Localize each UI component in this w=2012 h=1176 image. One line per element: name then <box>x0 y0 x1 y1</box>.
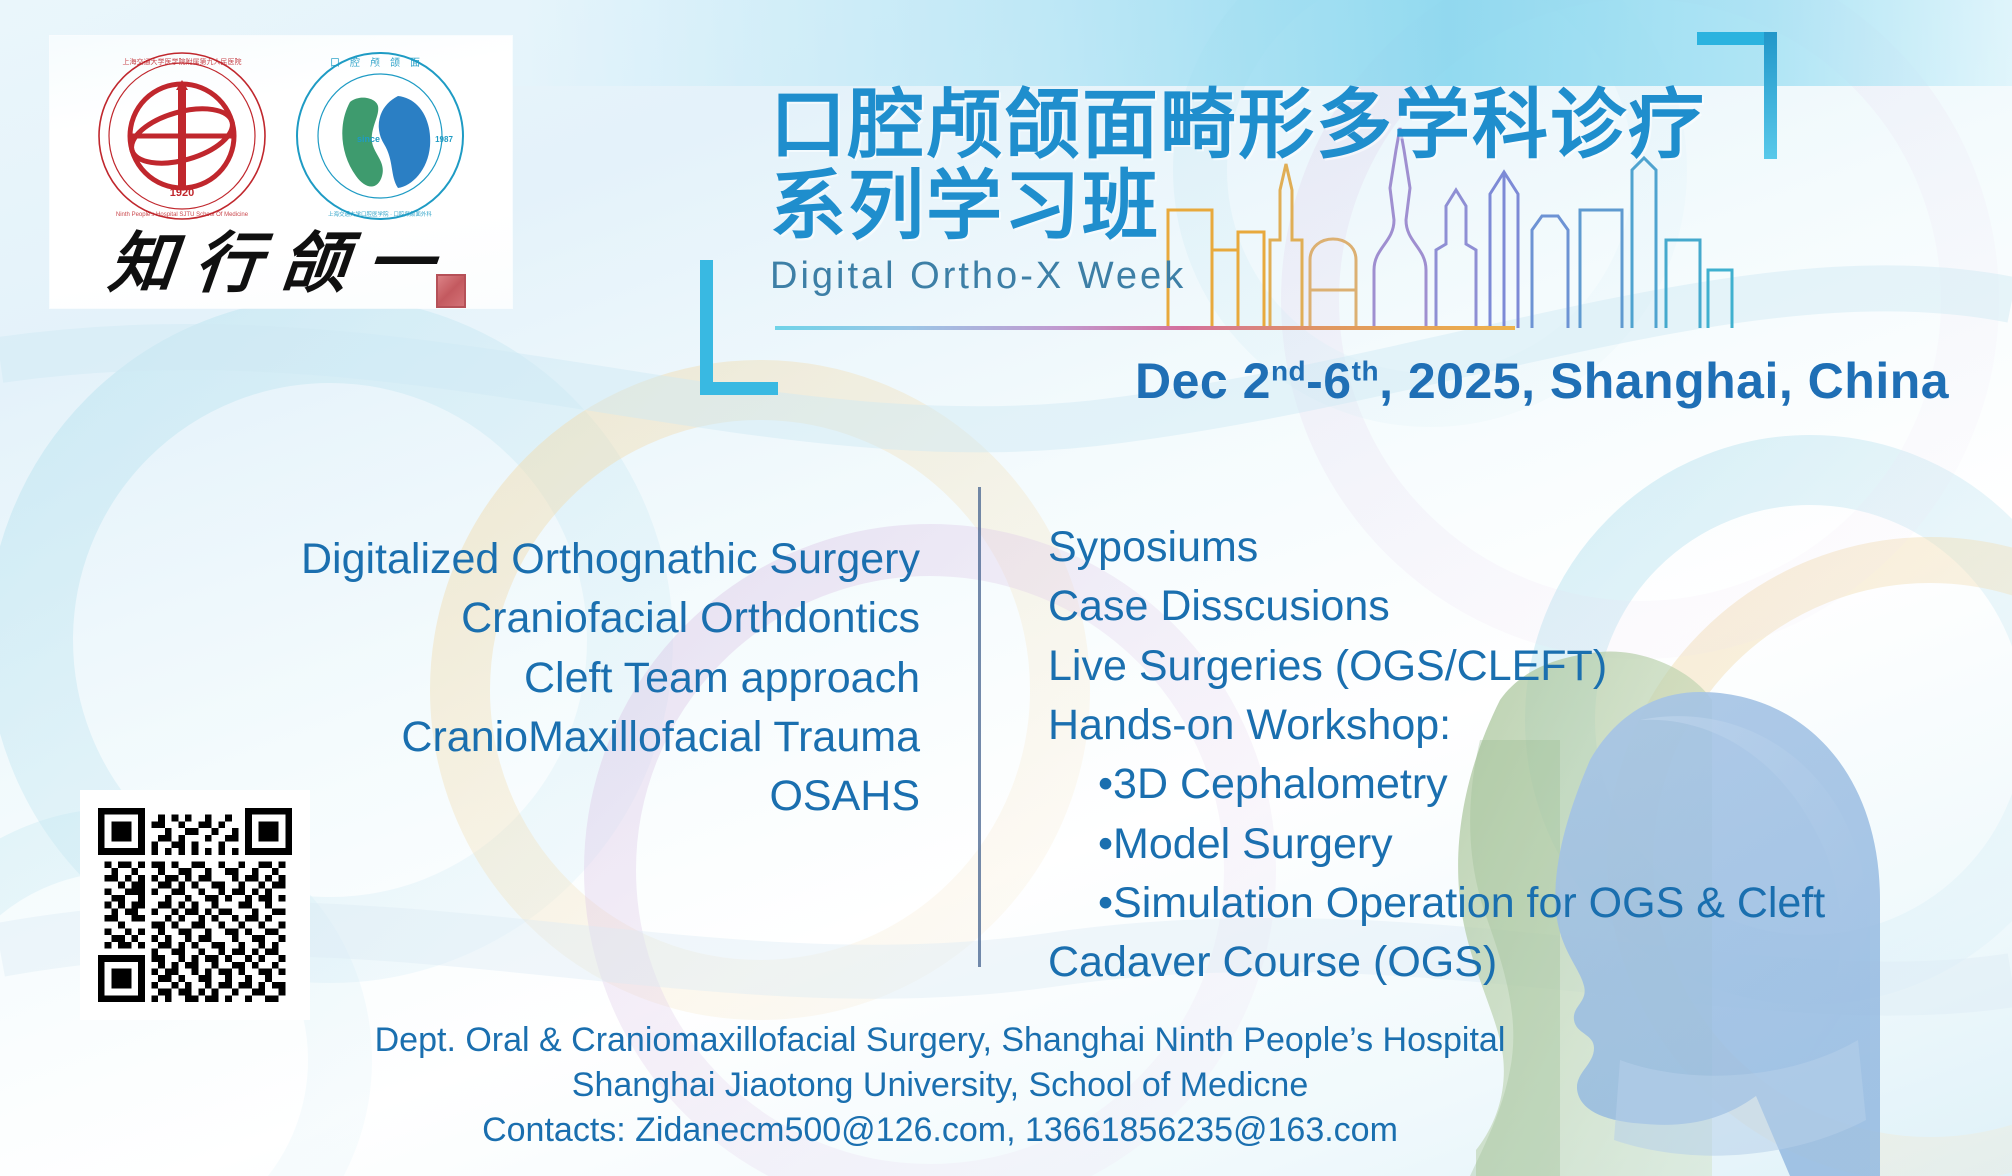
hospital-logo-icon: 1920 上海交通大学医学院附属第九人民医院 Ninth People's Ho… <box>96 50 268 222</box>
title-english: Digital Ortho-X Week <box>770 255 1890 298</box>
department-logo-icon: since 1987 口腔颅颌面 上海交通大学口腔医学院 · 口腔颅颌面外科 <box>294 50 466 222</box>
footer-line-department: Dept. Oral & Craniomaxillofacial Surgery… <box>0 1018 1880 1063</box>
svg-text:Ninth People's Hospital SJTU: Ninth People's Hospital SJTU School Of M… <box>116 212 249 218</box>
title-block: 口腔颅颌面畸形多学科诊疗 系列学习班 Digital Ortho-X Week <box>770 86 1890 298</box>
logo-row: 1920 上海交通大学医学院附属第九人民医院 Ninth People's Ho… <box>50 50 512 222</box>
date-ordinal-1: nd <box>1271 355 1306 386</box>
topic-item: CranioMaxillofacial Trauma <box>300 708 920 767</box>
footer-line-contacts: Contacts: Zidanecm500@126.com, 136618562… <box>0 1108 1880 1153</box>
activity-item: Syposiums <box>1048 518 1948 577</box>
date-ordinal-2: th <box>1352 355 1379 386</box>
conference-poster: 1920 上海交通大学医学院附属第九人民医院 Ninth People's Ho… <box>0 0 2012 1176</box>
svg-text:since: since <box>357 134 380 144</box>
red-seal-icon <box>436 274 466 308</box>
topic-item: OSAHS <box>300 767 920 826</box>
topic-item: Cleft Team approach <box>300 649 920 708</box>
topics-left-column: Digitalized Orthognathic Surgery Craniof… <box>300 530 920 827</box>
topics-right-column: Syposiums Case Disscusions Live Surgerie… <box>1048 518 1948 993</box>
activity-item: Hands-on Workshop: <box>1048 696 1948 755</box>
activity-subitem: •Model Surgery <box>1048 815 1948 874</box>
registration-qr-code[interactable] <box>80 790 310 1020</box>
svg-text:上海交通大学口腔医学院 · 口腔颅颌面外科: 上海交通大学口腔医学院 · 口腔颅颌面外科 <box>328 210 432 218</box>
footer-contact-block: Dept. Oral & Craniomaxillofacial Surgery… <box>0 1018 1880 1154</box>
title-chinese: 口腔颅颌面畸形多学科诊疗 系列学习班 <box>770 86 1890 247</box>
title-chinese-line2: 系列学习班 <box>770 167 1890 248</box>
svg-text:上海交通大学医学院附属第九人民医院: 上海交通大学医学院附属第九人民医院 <box>123 57 242 66</box>
bracket-bottom-left <box>700 260 778 395</box>
column-divider <box>978 487 981 967</box>
activity-subitem: •Simulation Operation for OGS & Cleft <box>1048 874 1948 933</box>
event-date-location: Dec 2nd-6th, 2025, Shanghai, China <box>1135 352 1949 410</box>
activity-subitem: •3D Cephalometry <box>1048 755 1948 814</box>
svg-text:1987: 1987 <box>435 135 453 144</box>
activity-item: Case Disscusions <box>1048 577 1948 636</box>
activity-item: Cadaver Course (OGS) <box>1048 933 1948 992</box>
topic-item: Digitalized Orthognathic Surgery <box>300 530 920 589</box>
date-prefix: Dec 2 <box>1135 353 1271 409</box>
topic-item: Craniofacial Orthdontics <box>300 589 920 648</box>
svg-text:口腔颅颌面: 口腔颅颌面 <box>330 56 430 69</box>
date-mid: -6 <box>1306 353 1351 409</box>
footer-line-university: Shanghai Jiaotong University, School of … <box>0 1063 1880 1108</box>
title-chinese-line1: 口腔颅颌面畸形多学科诊疗 <box>770 83 1706 168</box>
logo-plate: 1920 上海交通大学医学院附属第九人民医院 Ninth People's Ho… <box>50 36 512 308</box>
rainbow-divider <box>775 326 1515 330</box>
activity-item: Live Surgeries (OGS/CLEFT) <box>1048 637 1948 696</box>
date-suffix: , 2025, Shanghai, China <box>1379 353 1949 409</box>
svg-text:1920: 1920 <box>170 187 194 199</box>
